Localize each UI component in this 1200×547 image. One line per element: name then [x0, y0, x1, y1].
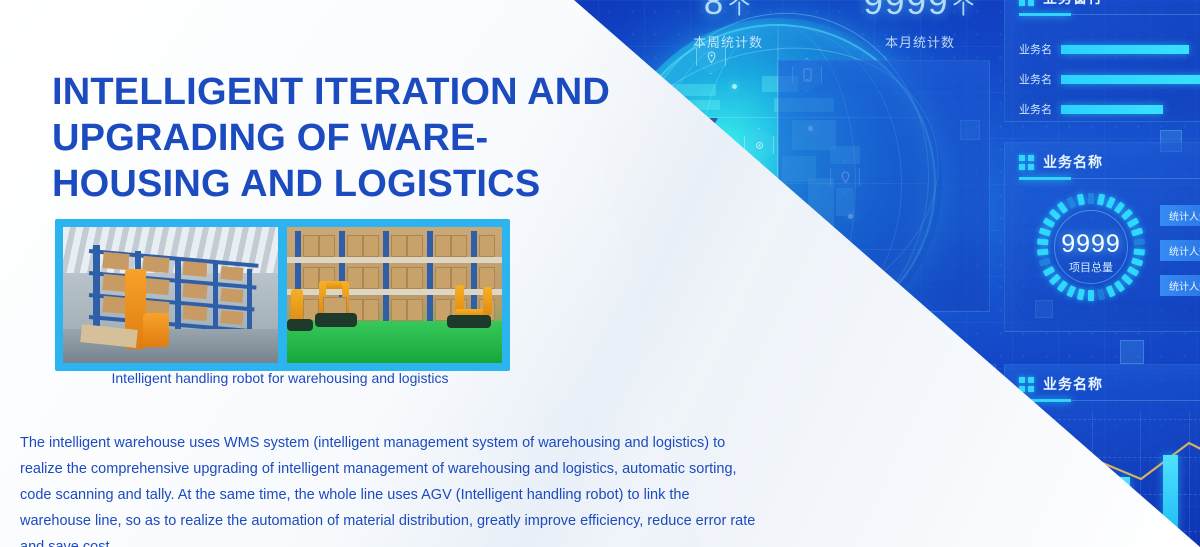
- bar-list: 业务名 业务名 业务名: [1005, 15, 1200, 117]
- donut-chart: 9999 项目总量: [1037, 193, 1145, 301]
- page-title: INTELLIGENT ITERATION AND UPGRADING OF W…: [52, 69, 612, 207]
- panel-title: 业务窗行: [1043, 0, 1103, 8]
- panel-title: 业务名称: [1043, 152, 1103, 172]
- donut-segment: [1114, 280, 1125, 292]
- donut-caption: 项目总量: [1037, 259, 1145, 275]
- donut-segment: [1088, 193, 1094, 204]
- panel-header: 业务窗行: [1005, 0, 1200, 15]
- donut-segment: [1066, 196, 1076, 208]
- stat-weekly-label: 本周统计数: [668, 32, 788, 51]
- bar-row-label: 业务名: [1019, 41, 1052, 57]
- donut-segment: [1057, 202, 1068, 214]
- stat-chip-list: 统计人数 统计人数 统计人数: [1160, 205, 1200, 310]
- photo-warehouse-racking: [60, 224, 281, 366]
- panel-project-total[interactable]: 业务名称 9999 项目总量 统计人数 统计人数 统计人数: [1004, 142, 1200, 332]
- donut-segment: [1097, 194, 1105, 206]
- donut-segment: [1077, 194, 1085, 206]
- stat-weekly-value: 8个: [668, 0, 788, 24]
- donut-segment: [1121, 209, 1133, 221]
- donut-segment: [1057, 280, 1068, 292]
- panel-business-ranking[interactable]: 业务窗行 业务名 业务名 业务名: [1004, 0, 1200, 122]
- donut-segment: [1106, 196, 1116, 208]
- donut-chart-area: 9999 项目总量 统计人数 统计人数 统计人数: [1005, 179, 1200, 319]
- photo-gallery: [55, 219, 510, 371]
- panel-header: 业务名称: [1005, 365, 1200, 401]
- stat-chip[interactable]: 统计人数: [1160, 205, 1200, 226]
- donut-segment: [1049, 209, 1061, 221]
- decor-chip: [1120, 340, 1144, 364]
- bar-row: 业务名: [1019, 71, 1200, 87]
- banner-stage: 8个 本周统计数 9999个 本月统计数 业务窗行 业务名 业务名 业务名: [0, 0, 1200, 547]
- stat-chip[interactable]: 统计人数: [1160, 240, 1200, 261]
- donut-segment: [1106, 285, 1116, 297]
- stat-monthly-value: 9999个: [856, 0, 984, 24]
- bar-row-track: [1061, 75, 1200, 84]
- bar-row: 业务名: [1019, 41, 1200, 57]
- four-square-icon: [1019, 0, 1034, 6]
- donut-segment: [1097, 288, 1105, 300]
- photo-agv-robots: [284, 224, 505, 366]
- photo-caption: Intelligent handling robot for warehousi…: [55, 370, 505, 386]
- donut-value: 9999: [1037, 230, 1145, 259]
- panel-title: 业务名称: [1043, 374, 1103, 394]
- body-paragraph: The intelligent warehouse uses WMS syste…: [20, 430, 762, 547]
- donut-segment: [1088, 290, 1094, 301]
- bar-row: 业务名: [1019, 101, 1200, 117]
- four-square-icon: [1019, 155, 1034, 170]
- donut-segment: [1043, 217, 1056, 228]
- stat-monthly: 9999个 本月统计数: [856, 0, 984, 51]
- four-square-icon: [1019, 377, 1034, 392]
- panel-header: 业务名称: [1005, 143, 1200, 179]
- donut-segment: [1121, 274, 1133, 286]
- stat-chip[interactable]: 统计人数: [1160, 275, 1200, 296]
- bar-row-label: 业务名: [1019, 71, 1052, 87]
- donut-segment: [1077, 288, 1085, 300]
- stat-monthly-label: 本月统计数: [856, 32, 984, 51]
- donut-segment: [1066, 285, 1076, 297]
- bar-row-track: [1061, 45, 1189, 54]
- bar-row-label: 业务名: [1019, 101, 1052, 117]
- donut-segment: [1127, 217, 1140, 228]
- stat-weekly: 8个 本周统计数: [668, 0, 788, 51]
- bar-row-track: [1061, 105, 1163, 114]
